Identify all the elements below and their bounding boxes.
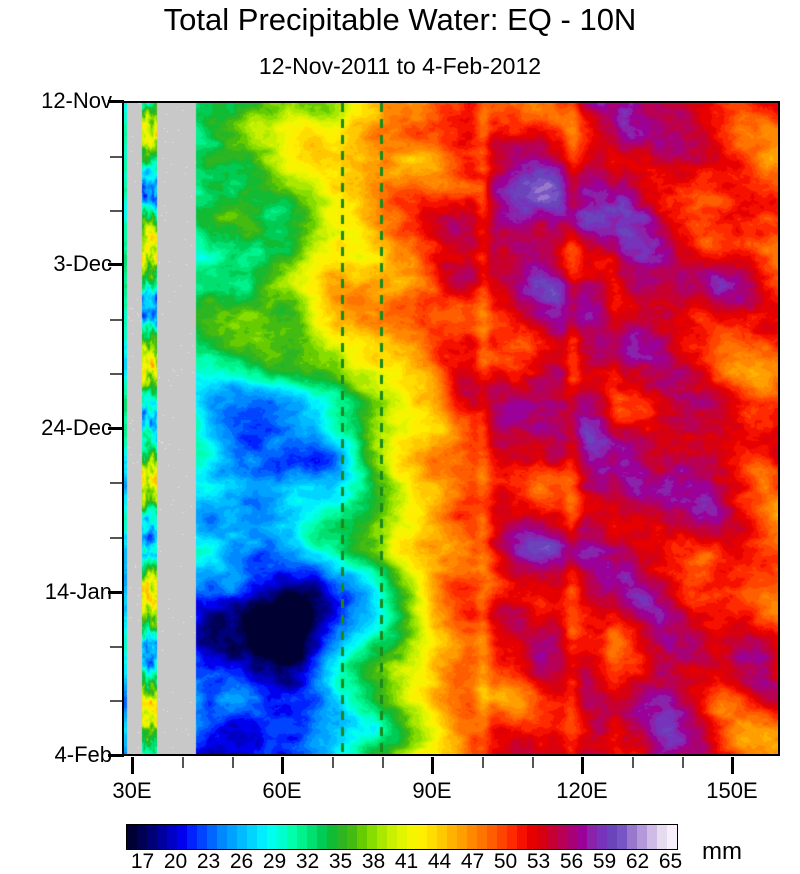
colorbar-tick-label: 32: [296, 850, 319, 874]
hovmoller-plot-area: [122, 101, 780, 756]
colorbar-tick-label: 47: [461, 850, 484, 874]
colorbar-swatch: [477, 825, 487, 849]
chart-page: Total Precipitable Water: EQ - 10N 12-No…: [0, 0, 800, 867]
colorbar-swatch: [367, 825, 377, 849]
colorbar-units-label: mm: [702, 838, 742, 866]
y-axis-label: 12-Nov: [41, 88, 112, 114]
x-axis-minor-tick: [532, 757, 534, 768]
y-axis-major-tick: [108, 100, 124, 103]
page-title: Total Precipitable Water: EQ - 10N: [0, 2, 800, 38]
colorbar-swatch: [257, 825, 267, 849]
y-axis-minor-tick: [110, 700, 122, 702]
colorbar-swatch: [617, 825, 627, 849]
colorbar-swatch: [227, 825, 237, 849]
colorbar-swatch: [137, 825, 147, 849]
colorbar-swatch: [527, 825, 537, 849]
colorbar-tick-label: 26: [230, 850, 253, 874]
colorbar-tick-label: 62: [626, 850, 649, 874]
colorbar-swatch: [177, 825, 187, 849]
colorbar-swatch: [197, 825, 207, 849]
x-axis-label: 90E: [412, 778, 451, 804]
x-axis-minor-tick: [182, 757, 184, 768]
colorbar-tick-label: 29: [263, 850, 286, 874]
y-axis-label: 3-Dec: [53, 251, 112, 277]
colorbar-swatch: [387, 825, 397, 849]
colorbar-swatch: [667, 825, 677, 849]
colorbar-swatch: [297, 825, 307, 849]
chart-subtitle: 12-Nov-2011 to 4-Feb-2012: [0, 53, 800, 80]
colorbar-swatch: [497, 825, 507, 849]
x-axis-label: 30E: [112, 778, 151, 804]
colorbar-swatch: [407, 825, 417, 849]
colorbar-swatch: [607, 825, 617, 849]
y-axis-minor-tick: [110, 646, 122, 648]
colorbar-swatch: [417, 825, 427, 849]
colorbar-tick-label: 38: [362, 850, 385, 874]
colorbar-swatch: [147, 825, 157, 849]
colorbar-tick-label: 35: [329, 850, 352, 874]
colorbar-swatch: [507, 825, 517, 849]
y-axis-label: 14-Jan: [45, 579, 112, 605]
y-axis-major-tick: [108, 754, 124, 757]
colorbar-swatches: [126, 824, 678, 850]
x-axis-label: 60E: [262, 778, 301, 804]
colorbar-swatch: [317, 825, 327, 849]
y-axis-minor-tick: [110, 482, 122, 484]
colorbar-swatch: [657, 825, 667, 849]
x-axis-major-tick: [431, 757, 434, 774]
x-axis-minor-tick: [382, 757, 384, 768]
colorbar-swatch: [167, 825, 177, 849]
colorbar-swatch: [587, 825, 597, 849]
colorbar-swatch: [537, 825, 547, 849]
colorbar-swatch: [557, 825, 567, 849]
colorbar-tick-label: 53: [527, 850, 550, 874]
y-axis-major-tick: [108, 427, 124, 430]
colorbar-swatch: [567, 825, 577, 849]
x-axis-minor-tick: [682, 757, 684, 768]
colorbar-swatch: [457, 825, 467, 849]
colorbar-swatch: [157, 825, 167, 849]
y-axis-label: 4-Feb: [55, 742, 112, 768]
colorbar-swatch: [647, 825, 657, 849]
colorbar-swatch: [347, 825, 357, 849]
y-axis-major-tick: [108, 263, 124, 266]
colorbar-swatch: [237, 825, 247, 849]
x-axis-label: 150E: [706, 778, 757, 804]
colorbar-swatch: [357, 825, 367, 849]
colorbar-swatch: [287, 825, 297, 849]
colorbar-swatch: [427, 825, 437, 849]
y-axis-labels: 12-Nov3-Dec24-Dec14-Jan4-Feb: [0, 0, 112, 867]
colorbar-swatch: [337, 825, 347, 849]
colorbar-tick-label: 44: [428, 850, 451, 874]
colorbar-tick-label: 59: [593, 850, 616, 874]
x-axis-major-tick: [131, 757, 134, 774]
colorbar-tick-label: 56: [560, 850, 583, 874]
colorbar-swatch: [597, 825, 607, 849]
colorbar-swatch: [247, 825, 257, 849]
colorbar-tick-label: 50: [494, 850, 517, 874]
y-axis-minor-tick: [110, 210, 122, 212]
colorbar-swatch: [577, 825, 587, 849]
colorbar-swatch: [437, 825, 447, 849]
colorbar-swatch: [467, 825, 477, 849]
x-axis-minor-tick: [332, 757, 334, 768]
y-axis-minor-tick: [110, 319, 122, 321]
x-axis-major-tick: [581, 757, 584, 774]
x-axis-minor-tick: [232, 757, 234, 768]
colorbar-swatch: [627, 825, 637, 849]
colorbar-swatch: [217, 825, 227, 849]
colorbar-swatch: [207, 825, 217, 849]
x-axis-minor-tick: [482, 757, 484, 768]
precipitable-water-heatmap: [124, 103, 778, 754]
x-axis-major-tick: [281, 757, 284, 774]
x-axis-label: 120E: [556, 778, 607, 804]
colorbar-swatch: [127, 825, 137, 849]
y-axis-label: 24-Dec: [41, 415, 112, 441]
y-axis-major-tick: [108, 591, 124, 594]
y-axis-minor-tick: [110, 156, 122, 158]
x-axis-minor-tick: [632, 757, 634, 768]
colorbar-tick-label: 23: [197, 850, 220, 874]
colorbar-tick-label: 17: [131, 850, 154, 874]
colorbar-swatch: [277, 825, 287, 849]
colorbar-tick-label: 65: [659, 850, 682, 874]
x-axis-major-tick: [731, 757, 734, 774]
colorbar-swatch: [517, 825, 527, 849]
colorbar-swatch: [377, 825, 387, 849]
colorbar-swatch: [637, 825, 647, 849]
colorbar-swatch: [307, 825, 317, 849]
colorbar-swatch: [327, 825, 337, 849]
colorbar-swatch: [447, 825, 457, 849]
colorbar-tick-label: 41: [395, 850, 418, 874]
colorbar-swatch: [547, 825, 557, 849]
colorbar-tick-label: 20: [164, 850, 187, 874]
colorbar-swatch: [187, 825, 197, 849]
y-axis-minor-tick: [110, 537, 122, 539]
y-axis-minor-tick: [110, 373, 122, 375]
colorbar-swatch: [487, 825, 497, 849]
colorbar-swatch: [397, 825, 407, 849]
colorbar-swatch: [267, 825, 277, 849]
